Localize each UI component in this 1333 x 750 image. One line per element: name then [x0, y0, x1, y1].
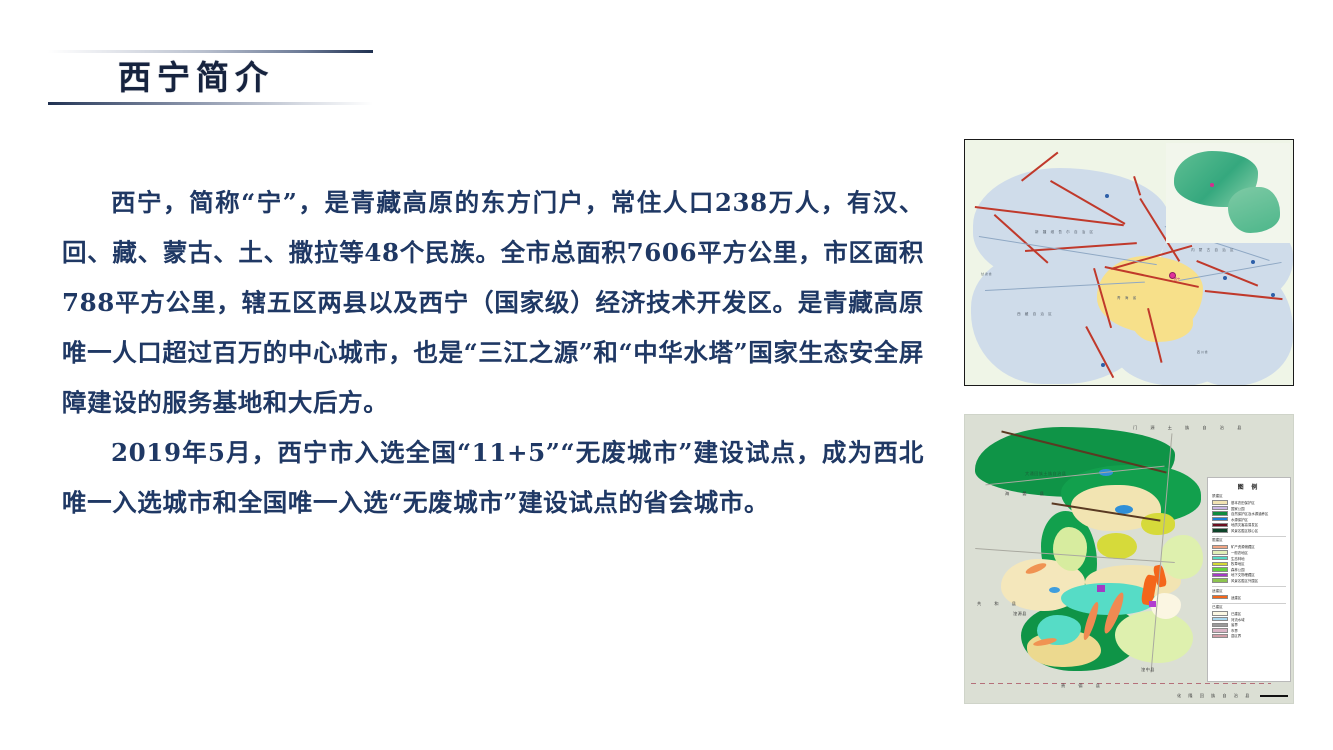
map-label-huangyuan: 湟源县 [1013, 611, 1027, 617]
legend-row: 自然保护区及水源涵养区 [1212, 511, 1286, 516]
legend-row: 生态林地 [1212, 556, 1286, 561]
body-text: 西宁，简称“宁”，是青藏高原的东方门户，常住人口238万人，有汉、回、藏、蒙古、… [62, 178, 924, 528]
legend-row: 风景名胜区核心区 [1212, 528, 1286, 533]
legend-color-swatch [1212, 562, 1228, 566]
map-label-xining: 西宁 [1174, 277, 1180, 281]
inset-marker-xining [1210, 183, 1214, 187]
map-label-guide: 贵 德 县 [1061, 683, 1106, 689]
legend-divider [1212, 603, 1286, 604]
map-image-xining-landuse: 大通回族土族自治县 湟源县 湟中县 门 源 土 族 自 治 县 海 晏 县 共 … [964, 414, 1294, 704]
legend-row: 适建区 [1212, 595, 1286, 600]
map-label-gonghe: 共 和 县 [977, 601, 1022, 607]
legend-item-label: 基本农田保护区 [1231, 500, 1255, 505]
map-label-huangzhong: 湟中县 [1141, 667, 1155, 673]
legend-item-label: 市界 [1231, 628, 1238, 633]
map-inset-terrain [1166, 143, 1290, 243]
map-marker-city [1223, 276, 1227, 280]
landuse-zone-underground-heritage [1097, 585, 1105, 592]
legend-divider [1212, 586, 1286, 587]
legend-item-label: 自然保护区及水源涵养区 [1231, 511, 1268, 516]
legend-color-swatch [1212, 528, 1228, 532]
legend-row: 牧草地区 [1212, 561, 1286, 566]
legend-divider [1212, 536, 1286, 537]
legend-item-label: 矿产资源储藏区 [1231, 544, 1255, 549]
landuse-zone-general-agriculture [1161, 535, 1203, 579]
legend-item-label: 风景名胜区外围区 [1231, 578, 1258, 583]
legend-section-heading: 适建区 [1212, 589, 1286, 594]
legend-row: 水源保护区 [1212, 517, 1286, 522]
legend-color-swatch [1212, 617, 1228, 621]
legend-item-label: 河流水域 [1231, 617, 1245, 622]
legend-row: 已建区 [1212, 611, 1286, 616]
legend-row: 县区界 [1212, 633, 1286, 638]
map-label-haiyan: 海 晏 县 [1005, 491, 1050, 497]
landuse-zone-grassland [1097, 533, 1137, 559]
map-label-inner-mongolia: 内 蒙 古 自 治 区 [1191, 248, 1235, 253]
map-marker-city [1101, 363, 1105, 367]
legend-color-swatch [1212, 623, 1228, 627]
legend-item-label: 地下文物埋藏区 [1231, 572, 1255, 577]
landuse-zone-general-agriculture [1053, 527, 1087, 571]
legend-section-heading: 限建区 [1212, 538, 1286, 543]
legend-title: 图 例 [1212, 482, 1286, 491]
landuse-zone-underground-heritage [1149, 601, 1156, 607]
legend-item-label: 一般农地区 [1231, 550, 1248, 555]
legend-color-swatch [1212, 611, 1228, 615]
title-rule-bottom [48, 102, 373, 105]
legend-color-swatch [1212, 511, 1228, 515]
legend-item-label: 生态林地 [1231, 556, 1245, 561]
legend-item-label: 省界 [1231, 622, 1238, 627]
legend-color-swatch [1212, 500, 1228, 504]
map-boundary-dashed [971, 683, 1271, 684]
paragraph-pilot: 2019年5月，西宁市入选全国“11+5”“无废城市”建设试点，成为西北唯一入选… [62, 428, 924, 528]
legend-color-swatch [1212, 634, 1228, 638]
legend-item-label: 国家公园 [1231, 506, 1245, 511]
title-block: 西宁简介 [48, 42, 373, 120]
map-label-datong: 大通回族土族自治县 [1025, 471, 1066, 477]
map-label-qinghai: 青 海 省 [1117, 296, 1138, 301]
page-title: 西宁简介 [118, 56, 373, 100]
legend-color-swatch [1212, 628, 1228, 632]
map-label-xinjiang: 新 疆 维 吾 尔 自 治 区 [1035, 230, 1095, 235]
map-label-menyuan: 门 源 土 族 自 治 县 [1133, 425, 1247, 431]
legend-row: 风景名胜区外围区 [1212, 578, 1286, 583]
landuse-zone-water [1049, 587, 1060, 593]
legend-color-swatch [1212, 573, 1228, 577]
legend-color-swatch [1212, 578, 1228, 582]
legend-row: 市界 [1212, 628, 1286, 633]
legend-item-label: 森林公园 [1231, 567, 1245, 572]
legend-item-label: 水源保护区 [1231, 517, 1248, 522]
map-scale-bar [1260, 695, 1288, 697]
legend-row: 国家公园 [1212, 506, 1286, 511]
legend-item-label: 牧草地区 [1231, 561, 1245, 566]
legend-item-label: 县区界 [1231, 633, 1241, 638]
paragraph-intro: 西宁，简称“宁”，是青藏高原的东方门户，常住人口238万人，有汉、回、藏、蒙古、… [62, 178, 924, 428]
legend-color-swatch [1212, 523, 1228, 527]
map-image-qinghai-region: 新 疆 维 吾 尔 自 治 区 西 藏 自 治 区 内 蒙 古 自 治 区 甘 … [964, 139, 1294, 386]
legend-body: 禁建区基本农田保护区国家公园自然保护区及水源涵养区水源保护区地质灾害高易发区风景… [1212, 494, 1286, 638]
legend-color-swatch [1212, 595, 1228, 599]
legend-row: 地质灾害高易发区 [1212, 522, 1286, 527]
legend-row: 森林公园 [1212, 567, 1286, 572]
map-label-gansu: 甘 肃 省 [981, 272, 992, 276]
legend-color-swatch [1212, 556, 1228, 560]
legend-section-heading: 已建区 [1212, 605, 1286, 610]
legend-color-swatch [1212, 545, 1228, 549]
legend-row: 一般农地区 [1212, 550, 1286, 555]
map-marker-city [1105, 194, 1109, 198]
legend-row: 矿产资源储藏区 [1212, 544, 1286, 549]
legend-color-swatch [1212, 567, 1228, 571]
map-label-hualong: 化 隆 回 族 自 治 县 [1177, 693, 1252, 699]
legend-row: 省界 [1212, 622, 1286, 627]
map-label-xizang: 西 藏 自 治 区 [1017, 312, 1053, 317]
landuse-zone-grassland [1141, 513, 1175, 535]
slide-canvas: 西宁简介 西宁，简称“宁”，是青藏高原的东方门户，常住人口238万人，有汉、回、… [0, 0, 1333, 750]
legend-item-label: 已建区 [1231, 611, 1241, 616]
legend-row: 基本农田保护区 [1212, 500, 1286, 505]
map-label-sichuan: 四 川 省 [1197, 350, 1208, 354]
map-marker-city [1271, 293, 1275, 297]
legend-section-heading: 禁建区 [1212, 494, 1286, 499]
inset-terrain-mass [1228, 187, 1280, 233]
title-rule-top [48, 50, 373, 53]
legend-color-swatch [1212, 550, 1228, 554]
map-marker-city [1251, 260, 1255, 264]
legend-row: 河流水域 [1212, 617, 1286, 622]
legend-color-swatch [1212, 517, 1228, 521]
legend-row: 地下文物埋藏区 [1212, 572, 1286, 577]
legend-item-label: 地质灾害高易发区 [1231, 522, 1258, 527]
legend-color-swatch [1212, 506, 1228, 510]
legend-item-label: 适建区 [1231, 595, 1241, 600]
map-legend: 图 例 禁建区基本农田保护区国家公园自然保护区及水源涵养区水源保护区地质灾害高易… [1207, 477, 1291, 682]
legend-item-label: 风景名胜区核心区 [1231, 528, 1258, 533]
map-region-qinghai-highlight-south [1131, 298, 1193, 342]
